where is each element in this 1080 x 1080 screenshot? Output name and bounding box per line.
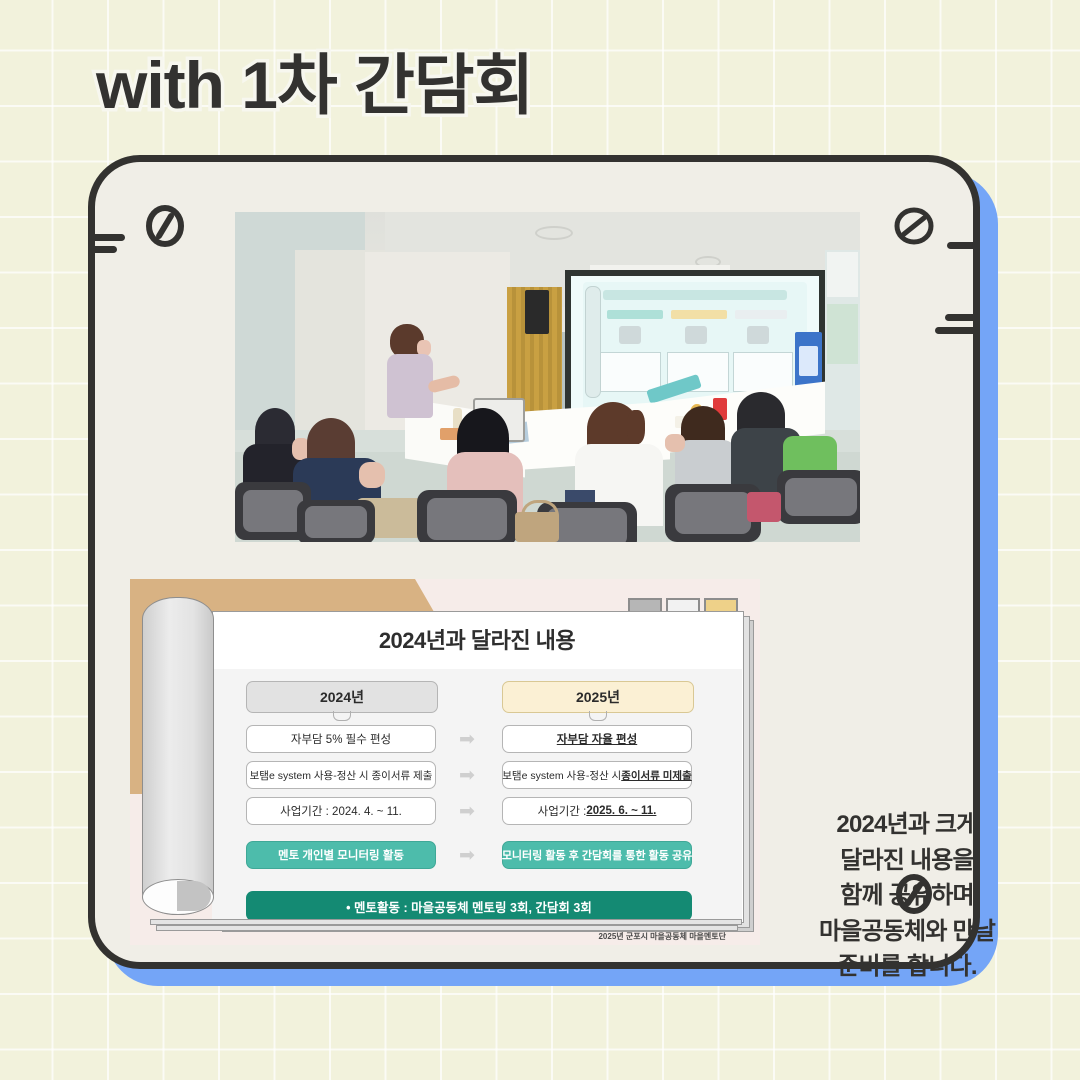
table-row: 모니터링 활동 후 간담회를 통한 활동 공유	[502, 841, 692, 869]
content-card: 2024년과 달라진 내용 2024년 2025년 자부담 5% 필수 편성 ➡…	[88, 155, 980, 969]
slide-mockup: 2024년과 달라진 내용 2024년 2025년 자부담 5% 필수 편성 ➡…	[130, 579, 760, 945]
tick-mark-right-1	[947, 242, 977, 249]
row-plain-text: 사업기간 :	[538, 803, 587, 819]
row-bold-text: 자부담 자율 편성	[557, 731, 637, 747]
connector-right	[589, 711, 607, 721]
table-row: 사업기간 : 2025. 6. ~ 11.	[502, 797, 692, 825]
tick-mark-left-1	[91, 234, 125, 241]
scroll-curl-inner	[177, 881, 211, 911]
column-header-2024: 2024년	[246, 681, 438, 713]
slide-body: 2024년 2025년 자부담 5% 필수 편성 ➡ 자부담 자율 편성 보탬e…	[212, 669, 742, 921]
no-entry-icon-bottom-right	[892, 872, 936, 921]
table-row: 자부담 5% 필수 편성	[246, 725, 436, 753]
caption-line: 2024년과 크게	[773, 807, 1041, 843]
slide-credit: 2025년 군포시 마을공동체 마을멘토단	[598, 931, 726, 942]
table-row: 자부담 자율 편성	[502, 725, 692, 753]
caption-line: 준비를 합니다.	[773, 949, 1041, 985]
arrow-icon: ➡	[455, 725, 479, 753]
row-plain-text: 보탬e system 사용-정산 시	[502, 768, 621, 783]
arrow-icon: ➡	[455, 841, 479, 869]
footer-bar: • 멘토활동 : 마을공동체 멘토링 3회, 간담회 3회	[246, 891, 692, 921]
scroll-curl	[142, 597, 214, 915]
table-row: 사업기간 : 2024. 4. ~ 11.	[246, 797, 436, 825]
tick-mark-right-3	[935, 327, 977, 334]
table-row: 멘토 개인별 모니터링 활동	[246, 841, 436, 869]
arrow-icon: ➡	[455, 797, 479, 825]
row-bold-text: 2025. 6. ~ 11.	[586, 805, 656, 817]
slide-title: 2024년과 달라진 내용	[212, 623, 742, 655]
no-entry-icon-top-right	[892, 204, 936, 253]
column-header-2025: 2025년	[502, 681, 694, 713]
page-title: with 1차 간담회	[96, 52, 533, 118]
connector-left	[333, 711, 351, 721]
no-entry-icon-top-left	[143, 204, 187, 253]
tick-mark-right-2	[945, 314, 977, 321]
row-bold-text: 종이서류 미제출	[621, 768, 692, 783]
meeting-photo	[235, 212, 860, 542]
arrow-icon: ➡	[455, 761, 479, 789]
table-row: 보탬e system 사용-정산 시 종이서류 제출	[246, 761, 436, 789]
table-row: 보탬e system 사용-정산 시 종이서류 미제출	[502, 761, 692, 789]
slide-content: 2024년과 달라진 내용 2024년 2025년 자부담 5% 필수 편성 ➡…	[212, 611, 742, 921]
paper-edge-2	[156, 925, 738, 931]
tick-mark-left-2	[91, 246, 117, 253]
